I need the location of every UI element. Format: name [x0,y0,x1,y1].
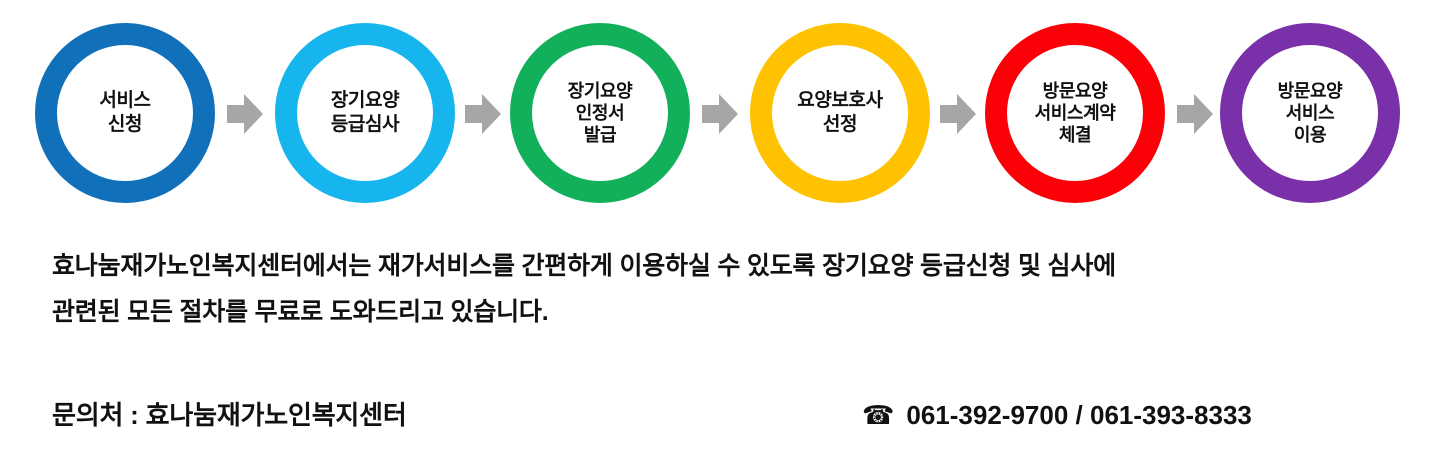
process-step-4: 요양보호사 선정 [750,23,930,203]
description-paragraph: 효나눔재가노인복지센터에서는 재가서비스를 간편하게 이용하실 수 있도록 장기… [52,243,1392,335]
process-flow-diagram: 서비스 신청장기요양 등급심사장기요양 인정서 발급요양보호사 선정방문요양 서… [0,0,1436,226]
contact-center-name: 문의처 : 효나눔재가노인복지센터 [52,395,407,435]
process-step-3: 장기요양 인정서 발급 [510,23,690,203]
arrow-right-icon [227,94,263,134]
process-step-label: 요양보호사 선정 [793,89,886,138]
contact-phone-numbers: 061-392-9700 / 061-393-8333 [906,395,1252,435]
arrow-right-icon [702,94,738,134]
process-step-label: 장기요양 인정서 발급 [564,80,637,147]
arrow-right-icon [940,94,976,134]
process-step-label: 서비스 신청 [95,89,154,138]
arrow-right-icon [465,94,501,134]
description-line-1: 효나눔재가노인복지센터에서는 재가서비스를 간편하게 이용하실 수 있도록 장기… [52,243,1392,289]
contact-row: 문의처 : 효나눔재가노인복지센터 ☎ 061-392-9700 / 061-3… [52,395,1392,445]
contact-phone-block: ☎ 061-392-9700 / 061-393-8333 [862,395,1252,435]
process-step-2: 장기요양 등급심사 [275,23,455,203]
process-step-5: 방문요양 서비스계약 체결 [985,23,1165,203]
process-step-label: 장기요양 등급심사 [327,89,403,138]
process-step-label: 방문요양 서비스 이용 [1274,80,1347,147]
process-step-6: 방문요양 서비스 이용 [1220,23,1400,203]
description-line-2: 관련된 모든 절차를 무료로 도와드리고 있습니다. [52,289,1392,335]
process-step-1: 서비스 신청 [35,23,215,203]
process-step-label: 방문요양 서비스계약 체결 [1031,80,1120,147]
telephone-icon: ☎ [862,395,894,435]
arrow-right-icon [1177,94,1213,134]
